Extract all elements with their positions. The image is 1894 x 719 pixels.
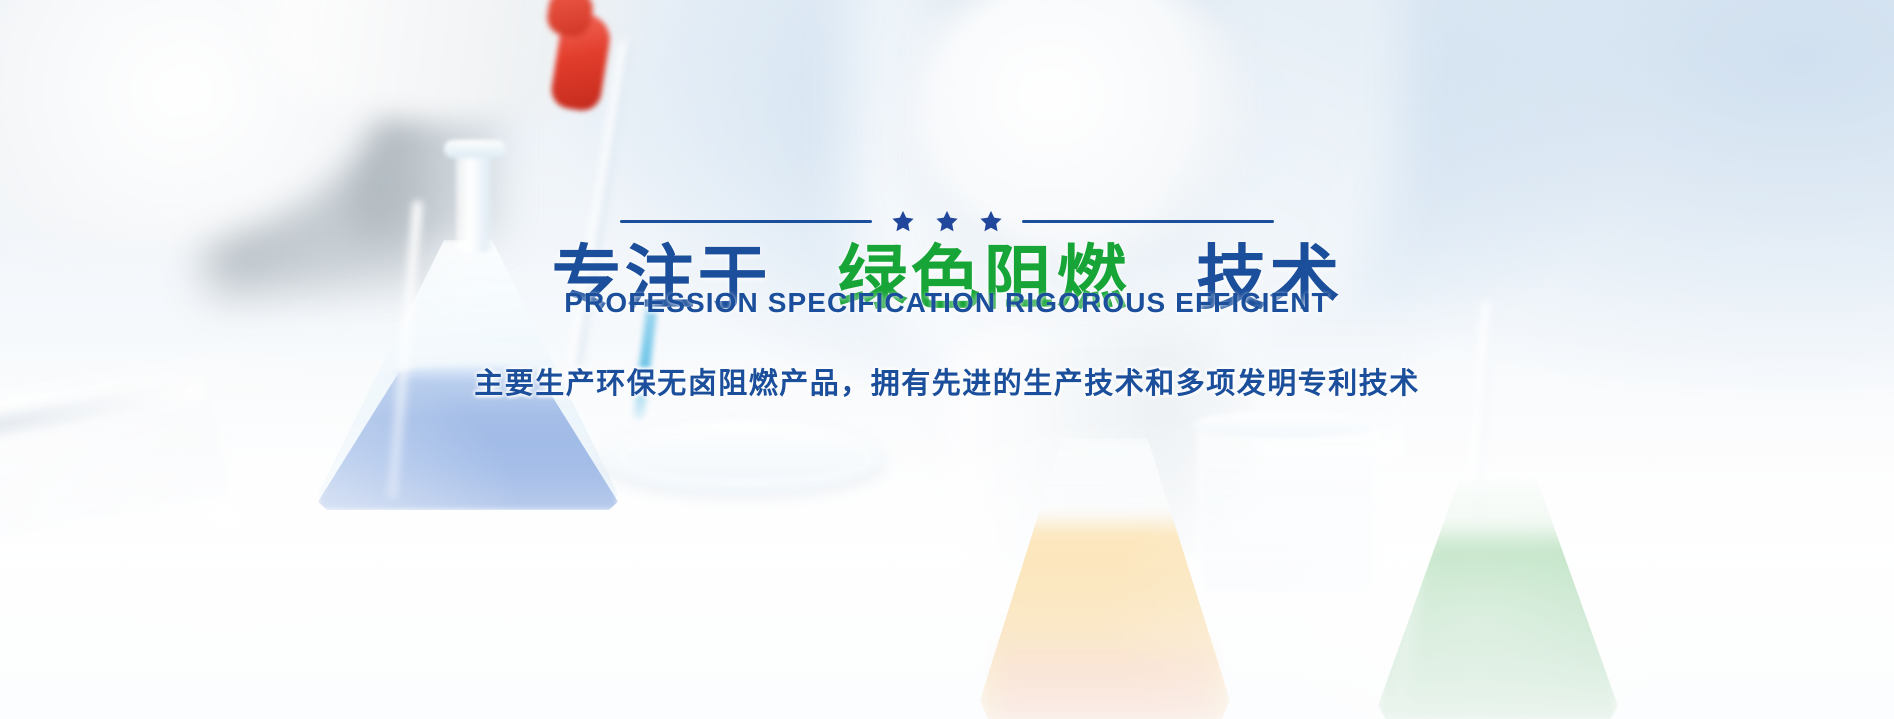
erlenmeyer-liquid-surface: [395, 366, 543, 382]
desk-surface: [0, 419, 1894, 719]
erlenmeyer-flask-neck: [456, 142, 492, 252]
erlenmeyer-flask-lip: [444, 140, 506, 158]
hero-banner: 专注于 绿色阻燃 技术 PROFESSION SPECIFICATION RIG…: [0, 0, 1894, 719]
